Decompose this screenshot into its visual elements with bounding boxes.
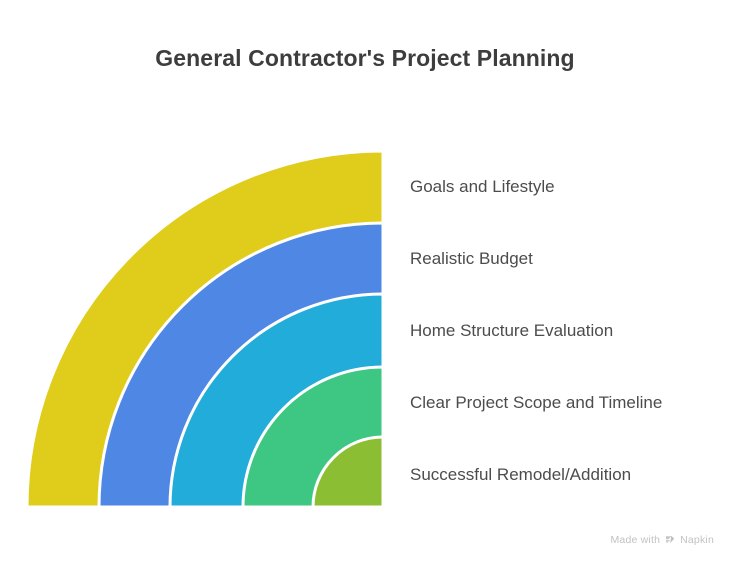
ring-label-home-structure-evaluation: Home Structure Evaluation (410, 322, 613, 339)
nested-arc-chart (0, 0, 420, 558)
ring-label-list: Goals and Lifestyle Realistic Budget Hom… (410, 0, 730, 558)
ring-label-clear-project-scope-and-timeline: Clear Project Scope and Timeline (410, 394, 662, 411)
infographic-canvas: General Contractor's Project Planning Go… (0, 0, 730, 558)
watermark-prefix: Made with (610, 534, 660, 546)
napkin-chevron-logo-icon (664, 534, 676, 546)
ring-label-realistic-budget: Realistic Budget (410, 250, 533, 267)
ring-label-goals-and-lifestyle: Goals and Lifestyle (410, 178, 555, 195)
watermark-brand: Napkin (680, 534, 714, 546)
napkin-watermark: Made with Napkin (610, 534, 714, 546)
ring-label-successful-remodel-addition: Successful Remodel/Addition (410, 466, 631, 483)
arc-chart-svg (0, 0, 420, 558)
arc-ring-group (27, 151, 383, 507)
